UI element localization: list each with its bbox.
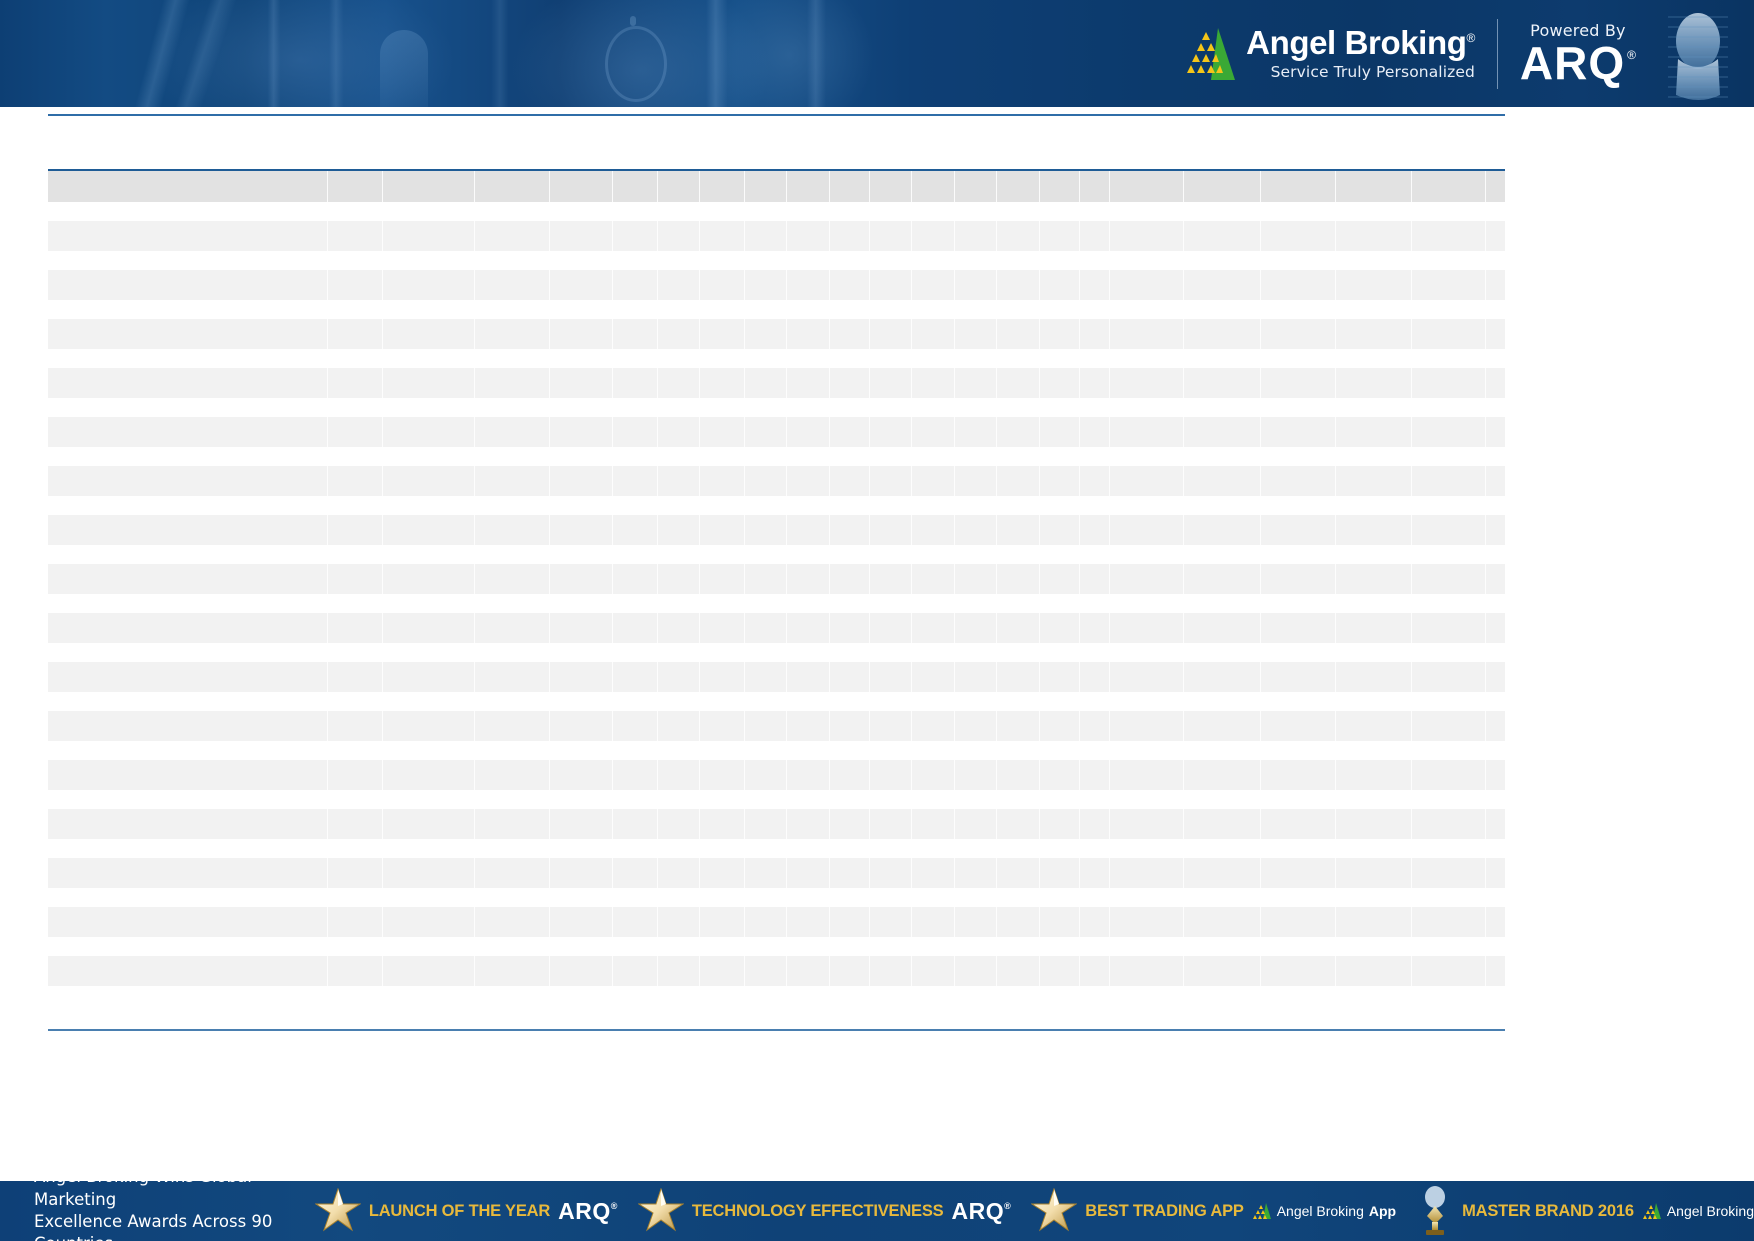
table-row-gap: [48, 839, 1505, 858]
header-arch-glyph: [380, 30, 428, 107]
table-cell: [912, 417, 955, 447]
table-cell: [700, 564, 745, 594]
table-cell: [1110, 417, 1184, 447]
table-cell: [1080, 417, 1110, 447]
table-cell: [383, 907, 475, 937]
table-cell: [1261, 956, 1336, 986]
footer-headline-line1: Angel Broking Wins Global Marketing: [34, 1181, 295, 1211]
table-cell: [550, 956, 613, 986]
table-cell: [550, 760, 613, 790]
table-cell: [745, 466, 787, 496]
table-header-cell: [328, 171, 383, 202]
table-cell: [1080, 564, 1110, 594]
table-cell: [1080, 221, 1110, 251]
brand-registered-mark: ®: [1466, 31, 1474, 45]
table-cell: [1486, 466, 1535, 496]
table-cell: [613, 711, 658, 741]
table-cell: [1261, 662, 1336, 692]
table-cell: [550, 368, 613, 398]
table-cell: [48, 662, 328, 692]
table-row-gap: [48, 888, 1505, 907]
table-header-cell: [475, 171, 550, 202]
angel-triangle-mini-icon: [1642, 1202, 1662, 1220]
table-cell: [997, 956, 1040, 986]
award-arq-logo: ARQ®: [951, 1198, 1011, 1225]
table-cell: [48, 711, 328, 741]
table-cell: [997, 319, 1040, 349]
table-cell: [955, 319, 997, 349]
table-cell: [830, 466, 870, 496]
table-cell: [700, 466, 745, 496]
table-cell: [1486, 417, 1535, 447]
table-header-cell: [1261, 171, 1336, 202]
table-cell: [1110, 956, 1184, 986]
table-cell: [1040, 711, 1080, 741]
table-cell: [383, 662, 475, 692]
table-cell: [1336, 956, 1412, 986]
table-cell: [745, 515, 787, 545]
table-cell: [787, 809, 830, 839]
table-cell: [1486, 368, 1535, 398]
table-cell: [787, 956, 830, 986]
table-cell: [912, 368, 955, 398]
star-award-icon: [315, 1188, 361, 1234]
table-cell: [48, 368, 328, 398]
header-texture-overlay: [0, 0, 877, 107]
table-cell: [383, 515, 475, 545]
table-cell: [475, 760, 550, 790]
table-cell: [1412, 858, 1486, 888]
table-cell: [1486, 319, 1535, 349]
table-cell: [383, 858, 475, 888]
table-header-cell: [613, 171, 658, 202]
table-cell: [1486, 662, 1535, 692]
table-cell: [1261, 417, 1336, 447]
table-cell: [383, 221, 475, 251]
table-header-cell: [1110, 171, 1184, 202]
table-cell: [745, 858, 787, 888]
angel-triangle-icon: [1178, 26, 1236, 82]
table-cell: [475, 564, 550, 594]
table-cell: [1486, 270, 1535, 300]
table-cell: [830, 662, 870, 692]
table-cell: [787, 858, 830, 888]
table-cell: [383, 956, 475, 986]
table-cell: [475, 662, 550, 692]
table-cell: [1486, 956, 1535, 986]
table-cell: [383, 319, 475, 349]
table-cell: [658, 613, 700, 643]
table-cell: [613, 368, 658, 398]
table-cell: [1184, 907, 1261, 937]
table-cell: [700, 270, 745, 300]
table-cell: [700, 417, 745, 447]
table-cell: [1486, 858, 1535, 888]
award-badge: LAUNCH OF THE YEARARQ®: [315, 1188, 618, 1234]
table-row-gap: [48, 300, 1505, 319]
table-cell: [383, 564, 475, 594]
table-cell: [475, 515, 550, 545]
table-cell: [1040, 515, 1080, 545]
table-row-gap: [48, 447, 1505, 466]
table-cell: [328, 760, 383, 790]
table-cell: [1412, 711, 1486, 741]
table-header-cell: [1486, 171, 1535, 202]
table-top-rule: [48, 114, 1505, 116]
table-cell: [912, 662, 955, 692]
table-cell: [700, 760, 745, 790]
table-row: [48, 270, 1505, 300]
table-cell: [912, 760, 955, 790]
table-cell: [550, 858, 613, 888]
table-cell: [383, 270, 475, 300]
table-cell: [658, 319, 700, 349]
table-row: [48, 858, 1505, 888]
award-brand-mark: Angel Broking: [1642, 1202, 1754, 1220]
table-cell: [475, 319, 550, 349]
table-cell: [1184, 368, 1261, 398]
table-cell: [328, 564, 383, 594]
table-cell: [1486, 515, 1535, 545]
footer-headline-line2: Excellence Awards Across 90 Countries: [34, 1211, 295, 1241]
arq-registered-mark: ®: [1627, 48, 1636, 62]
table-header-cell: [745, 171, 787, 202]
table-cell: [550, 907, 613, 937]
table-cell: [830, 417, 870, 447]
table-cell: [700, 368, 745, 398]
table-cell: [787, 417, 830, 447]
table-cell: [912, 466, 955, 496]
table-header-cell: [830, 171, 870, 202]
table-cell: [1336, 564, 1412, 594]
table-cell: [1040, 662, 1080, 692]
table-cell: [1080, 466, 1110, 496]
table-cell: [912, 907, 955, 937]
table-row-gap: [48, 790, 1505, 809]
table-cell: [550, 613, 613, 643]
table-cell: [955, 858, 997, 888]
table-cell: [745, 809, 787, 839]
table-row-gap: [48, 251, 1505, 270]
table-cell: [383, 417, 475, 447]
table-cell: [1184, 613, 1261, 643]
trophy-award-icon: [1416, 1186, 1454, 1236]
table-cell: [912, 564, 955, 594]
table-cell: [1080, 613, 1110, 643]
table-cell: [550, 466, 613, 496]
table-cell: [1412, 319, 1486, 349]
table-cell: [1336, 858, 1412, 888]
table-cell: [830, 270, 870, 300]
table-cell: [1184, 662, 1261, 692]
table-cell: [1336, 417, 1412, 447]
table-cell: [1412, 760, 1486, 790]
table-cell: [550, 515, 613, 545]
table-cell: [48, 270, 328, 300]
table-cell: [475, 809, 550, 839]
table-cell: [1486, 564, 1535, 594]
table-cell: [1486, 809, 1535, 839]
table-row-gap: [48, 202, 1505, 221]
table-cell: [1110, 907, 1184, 937]
table-cell: [475, 417, 550, 447]
table-cell: [1336, 221, 1412, 251]
table-cell: [550, 221, 613, 251]
table-header-cell: [870, 171, 912, 202]
brand-tagline: Service Truly Personalized: [1246, 65, 1475, 81]
table-cell: [550, 809, 613, 839]
table-cell: [550, 564, 613, 594]
table-cell: [830, 711, 870, 741]
table-cell: [48, 858, 328, 888]
table-cell: [1486, 907, 1535, 937]
table-cell: [328, 270, 383, 300]
table-cell: [1040, 858, 1080, 888]
table-cell: [912, 613, 955, 643]
table-cell: [613, 662, 658, 692]
table-cell: [1110, 221, 1184, 251]
table-cell: [658, 466, 700, 496]
table-cell: [328, 221, 383, 251]
table-cell: [870, 417, 912, 447]
table-cell: [1261, 368, 1336, 398]
table-row: [48, 662, 1505, 692]
brand-name: Angel Broking®: [1246, 26, 1475, 59]
table-cell: [870, 809, 912, 839]
table-cell: [745, 956, 787, 986]
table-cell: [997, 760, 1040, 790]
table-header-cell: [997, 171, 1040, 202]
table-cell: [1184, 515, 1261, 545]
table-cell: [1336, 662, 1412, 692]
table-cell: [1110, 466, 1184, 496]
table-cell: [613, 809, 658, 839]
table-cell: [475, 368, 550, 398]
table-cell: [383, 466, 475, 496]
arq-head-icon: [1652, 5, 1744, 102]
table-cell: [700, 956, 745, 986]
table-header-cell: [700, 171, 745, 202]
table-cell: [658, 417, 700, 447]
table-cell: [1336, 613, 1412, 643]
table-row: [48, 809, 1505, 839]
table-cell: [1110, 809, 1184, 839]
table-cell: [700, 221, 745, 251]
table-cell: [613, 613, 658, 643]
arq-logo: Powered By ARQ ®: [1520, 21, 1636, 86]
table-cell: [328, 956, 383, 986]
table-cell: [745, 270, 787, 300]
table-cell: [1040, 368, 1080, 398]
table-header-cell: [1184, 171, 1261, 202]
table-cell: [700, 711, 745, 741]
table-cell: [328, 613, 383, 643]
award-arq-logo: ARQ®: [558, 1198, 618, 1225]
table-cell: [997, 417, 1040, 447]
table-row: [48, 221, 1505, 251]
table-cell: [1184, 809, 1261, 839]
table-cell: [475, 221, 550, 251]
table-cell: [1184, 466, 1261, 496]
table-cell: [658, 858, 700, 888]
table-cell: [1040, 613, 1080, 643]
table-cell: [745, 662, 787, 692]
table-cell: [830, 515, 870, 545]
table-cell: [550, 270, 613, 300]
table-cell: [1184, 956, 1261, 986]
table-header-cell: [658, 171, 700, 202]
table-row-gap: [48, 692, 1505, 711]
table-cell: [1261, 809, 1336, 839]
table-cell: [912, 809, 955, 839]
table-header-row: [48, 171, 1505, 202]
table-cell: [997, 466, 1040, 496]
table-cell: [745, 368, 787, 398]
table-cell: [1336, 319, 1412, 349]
table-cell: [830, 319, 870, 349]
table-cell: [787, 662, 830, 692]
table-header-cell: [48, 171, 328, 202]
table-cell: [955, 564, 997, 594]
table-row: [48, 368, 1505, 398]
table-cell: [1261, 466, 1336, 496]
table-cell: [613, 515, 658, 545]
table-cell: [787, 711, 830, 741]
table-cell: [475, 466, 550, 496]
table-cell: [1336, 270, 1412, 300]
table-cell: [1110, 858, 1184, 888]
table-cell: [613, 956, 658, 986]
table-cell: [745, 564, 787, 594]
table-cell: [870, 270, 912, 300]
table-cell: [328, 858, 383, 888]
table-cell: [1412, 466, 1486, 496]
table-cell: [48, 809, 328, 839]
table-cell: [787, 613, 830, 643]
angel-broking-wordmark: Angel Broking® Service Truly Personalize…: [1246, 26, 1475, 81]
table-cell: [1486, 711, 1535, 741]
table-cell: [1412, 270, 1486, 300]
table-cell: [912, 711, 955, 741]
award-label: TECHNOLOGY EFFECTIVENESS: [692, 1202, 944, 1221]
table-cell: [787, 466, 830, 496]
table-cell: [1412, 809, 1486, 839]
table-cell: [1184, 858, 1261, 888]
table-cell: [830, 613, 870, 643]
arq-name: ARQ: [1520, 42, 1625, 86]
table-row: [48, 515, 1505, 545]
table-cell: [1486, 613, 1535, 643]
table-cell: [870, 466, 912, 496]
table-cell: [1486, 760, 1535, 790]
table-row-gap: [48, 496, 1505, 515]
table-cell: [613, 907, 658, 937]
header-ring-glyph: [605, 26, 667, 102]
table-cell: [613, 564, 658, 594]
table-cell: [1336, 907, 1412, 937]
table-cell: [383, 760, 475, 790]
table-cell: [787, 907, 830, 937]
table-cell: [475, 711, 550, 741]
table-cell: [328, 319, 383, 349]
table-cell: [1261, 711, 1336, 741]
table-cell: [870, 368, 912, 398]
star-award-icon: [1031, 1188, 1077, 1234]
table-row-gap: [48, 545, 1505, 564]
table-header-cell: [1336, 171, 1412, 202]
table-cell: [912, 515, 955, 545]
table-cell: [787, 221, 830, 251]
star-award-icon: [638, 1188, 684, 1234]
table-row-gap: [48, 937, 1505, 956]
table-cell: [328, 907, 383, 937]
table-cell: [830, 368, 870, 398]
table-cell: [955, 711, 997, 741]
angel-broking-logo: Angel Broking® Service Truly Personalize…: [1178, 26, 1493, 82]
table-cell: [328, 809, 383, 839]
table-cell: [613, 858, 658, 888]
table-cell: [383, 613, 475, 643]
table-cell: [955, 270, 997, 300]
table-cell: [1336, 515, 1412, 545]
logo-divider: [1497, 19, 1498, 89]
table-cell: [997, 368, 1040, 398]
table-cell: [955, 221, 997, 251]
table-cell: [1412, 417, 1486, 447]
table-cell: [1040, 809, 1080, 839]
table-header-cell: [955, 171, 997, 202]
table-cell: [1040, 760, 1080, 790]
award-badge: TECHNOLOGY EFFECTIVENESSARQ®: [638, 1188, 1011, 1234]
table-cell: [1080, 760, 1110, 790]
table-cell: [1412, 907, 1486, 937]
table-cell: [870, 711, 912, 741]
table-cell: [658, 907, 700, 937]
table-cell: [912, 270, 955, 300]
table-cell: [1184, 221, 1261, 251]
header-dot-glyph: [630, 16, 636, 26]
table-cell: [475, 907, 550, 937]
table-cell: [870, 613, 912, 643]
table-cell: [745, 319, 787, 349]
table-cell: [658, 515, 700, 545]
table-cell: [1040, 417, 1080, 447]
table-cell: [912, 858, 955, 888]
table-header-cell: [1080, 171, 1110, 202]
table-cell: [658, 711, 700, 741]
table-cell: [328, 662, 383, 692]
table-cell: [1080, 515, 1110, 545]
table-cell: [383, 809, 475, 839]
table-cell: [658, 809, 700, 839]
table-cell: [1336, 368, 1412, 398]
table-header-cell: [912, 171, 955, 202]
table-cell: [1080, 809, 1110, 839]
table-bottom-rule: [48, 1029, 1505, 1031]
table-row-gap: [48, 398, 1505, 417]
table-cell: [48, 564, 328, 594]
table-cell: [1080, 368, 1110, 398]
brand-logo-group: Angel Broking® Service Truly Personalize…: [1178, 0, 1744, 107]
table-cell: [383, 368, 475, 398]
table-cell: [1336, 466, 1412, 496]
award-label: MASTER BRAND 2016: [1462, 1202, 1634, 1221]
table-cell: [870, 221, 912, 251]
table-cell: [870, 907, 912, 937]
table-cell: [1412, 956, 1486, 986]
award-brand-mark: Angel BrokingApp: [1252, 1202, 1396, 1220]
table-cell: [870, 956, 912, 986]
